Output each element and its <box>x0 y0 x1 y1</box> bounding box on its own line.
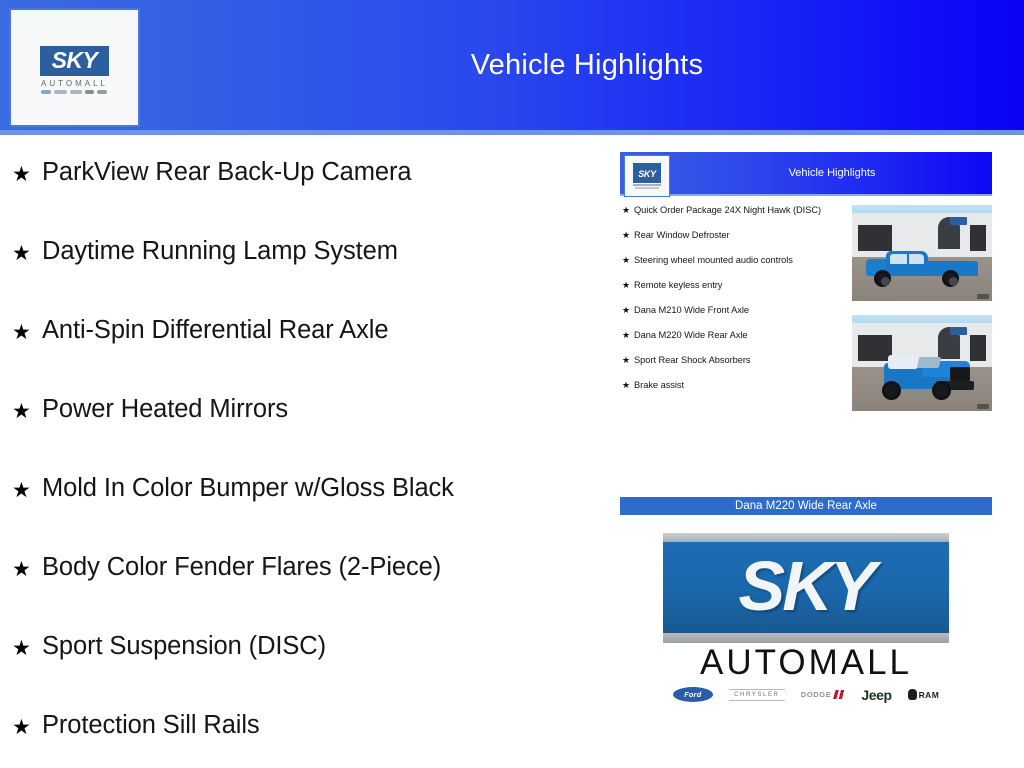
chrysler-badge-icon <box>54 90 67 94</box>
thumbnail-sky-wordmark: SKY <box>638 169 656 179</box>
list-item-label: Daytime Running Lamp System <box>42 225 398 265</box>
star-bullet-icon: ★ <box>12 146 42 185</box>
thumbnail-logo-card: SKY <box>624 155 670 197</box>
sign-sky-wordmark: SKY <box>739 551 874 621</box>
chrysler-logo-icon: CHRYSLER <box>729 688 785 702</box>
header-underline <box>0 130 1024 135</box>
truck-wheel <box>874 270 891 287</box>
list-item: ★ Steering wheel mounted audio controls <box>620 254 848 266</box>
list-item: ★ Remote keyless entry <box>620 279 848 291</box>
list-item: ★ Protection Sill Rails <box>12 699 602 768</box>
dealership-sign-block: Dana M220 Wide Rear Axle SKY AUTOMALL Fo… <box>620 497 992 705</box>
truck-wheel <box>882 381 901 400</box>
ford-badge-icon <box>41 90 51 94</box>
star-bullet-icon: ★ <box>12 462 42 501</box>
list-item-label: Brake assist <box>634 379 684 391</box>
sign-board: SKY <box>663 533 949 643</box>
jeep-badge-icon <box>85 90 94 94</box>
list-item-label: Sport Suspension (DISC) <box>42 620 326 660</box>
list-item-label: Protection Sill Rails <box>42 699 260 739</box>
truck-wheel <box>942 270 959 287</box>
star-bullet-icon: ★ <box>12 225 42 264</box>
sign-caption-bar: Dana M220 Wide Rear Axle <box>620 497 992 515</box>
list-item-label: Steering wheel mounted audio controls <box>634 254 793 266</box>
automall-subtext: AUTOMALL <box>41 79 108 88</box>
previous-slide-thumbnail: SKY Vehicle Highlights ★ Quick Order Pac… <box>620 152 992 424</box>
star-bullet-icon: ★ <box>12 699 42 738</box>
sign-trim-top <box>663 533 949 542</box>
list-item: ★ Sport Rear Shock Absorbers <box>620 354 848 366</box>
jeep-gladiator-front-illustration <box>874 353 978 401</box>
list-item: ★ Dana M210 Wide Front Axle <box>620 304 848 316</box>
sign-automall-text: AUTOMALL <box>620 645 992 680</box>
ram-logo-label: RAM <box>919 690 940 700</box>
list-item: ★ Quick Order Package 24X Night Hawk (DI… <box>620 204 848 216</box>
ram-badge-icon <box>97 90 107 94</box>
list-item-label: Rear Window Defroster <box>634 229 730 241</box>
star-bullet-icon: ★ <box>620 279 634 291</box>
photo-building-window <box>858 225 892 251</box>
dodge-logo-icon: DODGE <box>801 688 846 702</box>
list-item: ★ Dana M220 Wide Rear Axle <box>620 329 848 341</box>
thumbnail-title: Vehicle Highlights <box>672 152 992 194</box>
sign-blue-panel: SKY <box>663 542 949 633</box>
list-item: ★ Anti-Spin Differential Rear Axle <box>12 304 602 383</box>
sky-automall-sign-photo: SKY AUTOMALL Ford CHRYSLER DODGE Jeep RA… <box>620 515 992 705</box>
star-bullet-icon: ★ <box>620 354 634 366</box>
jeep-gladiator-side-illustration <box>864 249 980 285</box>
thumbnail-logo-stack: SKY <box>633 163 661 189</box>
thumbnail-header-underline <box>620 194 992 196</box>
truck-window-pillar <box>907 254 909 264</box>
dodge-logo-label: DODGE <box>801 690 832 699</box>
star-bullet-icon: ★ <box>620 329 634 341</box>
wheel-hub <box>949 277 958 286</box>
truck-grille <box>950 367 970 381</box>
star-bullet-icon: ★ <box>12 304 42 343</box>
jeep-logo-icon: Jeep <box>861 688 891 702</box>
ford-logo-icon: Ford <box>673 687 713 702</box>
truck-wheel <box>932 381 951 400</box>
list-item-label: Dana M210 Wide Front Axle <box>634 304 749 316</box>
star-bullet-icon: ★ <box>620 229 634 241</box>
star-bullet-icon: ★ <box>12 620 42 659</box>
star-bullet-icon: ★ <box>620 379 634 391</box>
truck-windshield <box>917 357 941 368</box>
list-item-label: ParkView Rear Back-Up Camera <box>42 146 411 186</box>
list-item-label: Quick Order Package 24X Night Hawk (DISC… <box>634 204 821 216</box>
thumbnail-sky-badge: SKY <box>633 163 661 183</box>
highlights-list: ★ ParkView Rear Back-Up Camera ★ Daytime… <box>12 146 602 768</box>
star-bullet-icon: ★ <box>12 383 42 422</box>
list-item-label: Body Color Fender Flares (2-Piece) <box>42 541 441 581</box>
list-item-label: Anti-Spin Differential Rear Axle <box>42 304 388 344</box>
vehicle-photo-front-view <box>852 315 992 411</box>
thumbnail-brand-line <box>635 187 659 189</box>
list-item-label: Sport Rear Shock Absorbers <box>634 354 751 366</box>
thumbnail-automall-line <box>633 184 661 186</box>
list-item: ★ Brake assist <box>620 379 848 391</box>
list-item: ★ Power Heated Mirrors <box>12 383 602 462</box>
list-item-label: Power Heated Mirrors <box>42 383 288 423</box>
star-bullet-icon: ★ <box>620 204 634 216</box>
thumbnail-highlights-list: ★ Quick Order Package 24X Night Hawk (DI… <box>620 204 848 404</box>
brand-logo-row: Ford CHRYSLER DODGE Jeep RAM <box>620 687 992 702</box>
star-bullet-icon: ★ <box>620 304 634 316</box>
star-bullet-icon: ★ <box>12 541 42 580</box>
photo-building-window <box>970 225 986 251</box>
list-item: ★ Body Color Fender Flares (2-Piece) <box>12 541 602 620</box>
page-title: Vehicle Highlights <box>150 0 1024 130</box>
list-item: ★ ParkView Rear Back-Up Camera <box>12 146 602 225</box>
list-item: ★ Rear Window Defroster <box>620 229 848 241</box>
vehicle-photo-side-view <box>852 205 992 301</box>
logo-stack: SKY AUTOMALL <box>40 46 110 94</box>
list-item: ★ Daytime Running Lamp System <box>12 225 602 304</box>
star-bullet-icon: ★ <box>620 254 634 266</box>
photo-watermark <box>977 404 989 409</box>
list-item-label: Dana M220 Wide Rear Axle <box>634 329 748 341</box>
truck-hardtop <box>888 355 918 369</box>
sky-wordmark: SKY <box>52 49 98 72</box>
list-item-label: Remote keyless entry <box>634 279 722 291</box>
list-item: ★ Sport Suspension (DISC) <box>12 620 602 699</box>
sign-trim-bottom <box>663 633 949 643</box>
sky-logo-badge: SKY <box>40 46 110 76</box>
list-item: ★ Mold In Color Bumper w/Gloss Black <box>12 462 602 541</box>
sky-automall-logo-card: SKY AUTOMALL <box>9 8 140 127</box>
list-item-label: Mold In Color Bumper w/Gloss Black <box>42 462 454 502</box>
ram-head-icon <box>908 689 917 700</box>
photo-sky-sign-icon <box>950 217 967 225</box>
logo-brand-strip <box>41 90 107 94</box>
slide-vehicle-highlights: SKY AUTOMALL Vehicle Highlights ★ ParkVi… <box>0 0 1024 768</box>
ram-logo-icon: RAM <box>908 688 940 702</box>
photo-sky-sign-icon <box>950 327 967 335</box>
photo-watermark <box>977 294 989 299</box>
dodge-badge-icon <box>70 90 82 94</box>
wheel-hub <box>881 277 890 286</box>
dodge-stripes-icon <box>833 690 845 699</box>
